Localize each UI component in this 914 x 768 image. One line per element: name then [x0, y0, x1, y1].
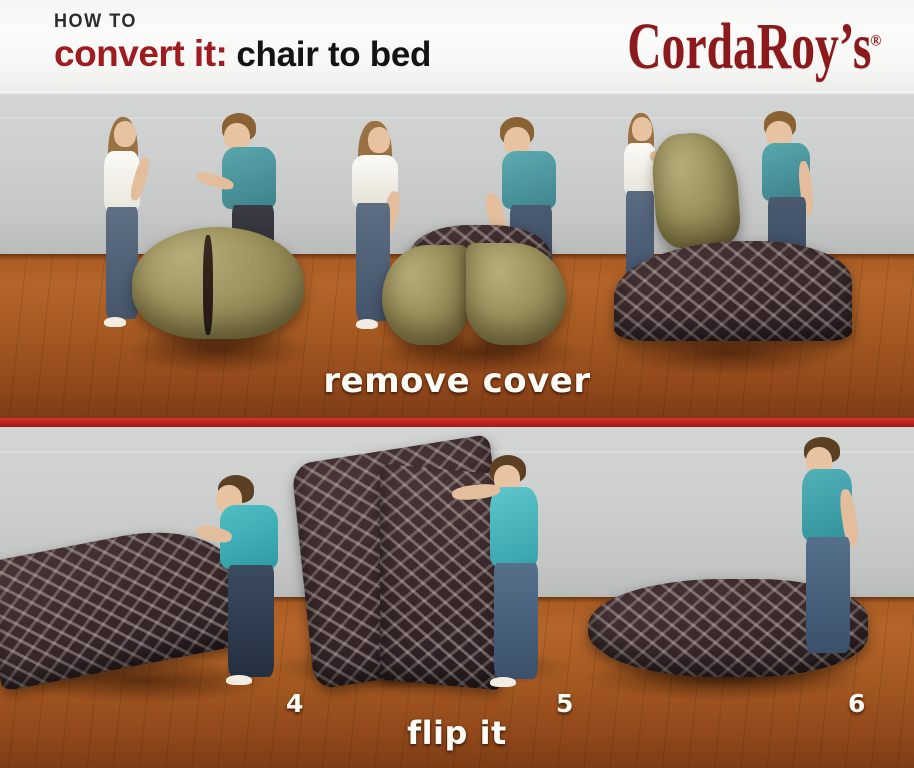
legs-jeans — [228, 565, 274, 677]
brand-logo-name: CordaRoy — [627, 11, 838, 83]
brand-logo: CordaRoy’s® — [627, 14, 880, 80]
brand-logo-suffix: ’s — [839, 11, 872, 83]
section-divider — [0, 418, 914, 427]
torso-shirt — [502, 151, 556, 209]
row-flip-it: 4 5 — [0, 427, 914, 768]
head — [368, 127, 390, 153]
row-caption-flip-it: flip it — [0, 714, 914, 752]
poster: HOW TO convert it: chair to bed CordaRoy… — [0, 0, 914, 768]
registered-trademark-icon: ® — [870, 33, 881, 49]
torso-shirt — [624, 143, 656, 195]
foot — [226, 675, 252, 685]
row-remove-cover: 1 2 — [0, 95, 914, 418]
headline-kicker: HOW TO — [54, 12, 412, 31]
header-banner: HOW TO convert it: chair to bed CordaRoy… — [0, 0, 914, 95]
headline-accent-text: convert it: — [54, 35, 227, 72]
head — [114, 121, 136, 147]
headline-group: HOW TO convert it: chair to bed — [54, 12, 431, 72]
step-number-4: 4 — [286, 689, 303, 718]
torso-shirt — [222, 147, 276, 209]
step-number-6: 6 — [848, 689, 865, 718]
prop-beanbag-cover-left — [382, 245, 468, 345]
head — [632, 117, 652, 141]
foot — [490, 677, 516, 687]
step-number-5: 5 — [556, 689, 573, 718]
legs-jeans — [494, 563, 538, 679]
foot — [104, 317, 126, 327]
foot — [356, 319, 378, 329]
row-caption-remove-cover: remove cover — [0, 361, 914, 401]
legs-jeans — [806, 537, 850, 653]
prop-beanbag-cover — [132, 227, 304, 339]
headline-line: convert it: chair to bed — [54, 35, 431, 72]
torso-shirt — [490, 487, 538, 567]
headline-rest-text: chair to bed — [236, 37, 431, 72]
prop-zipper — [203, 235, 213, 335]
